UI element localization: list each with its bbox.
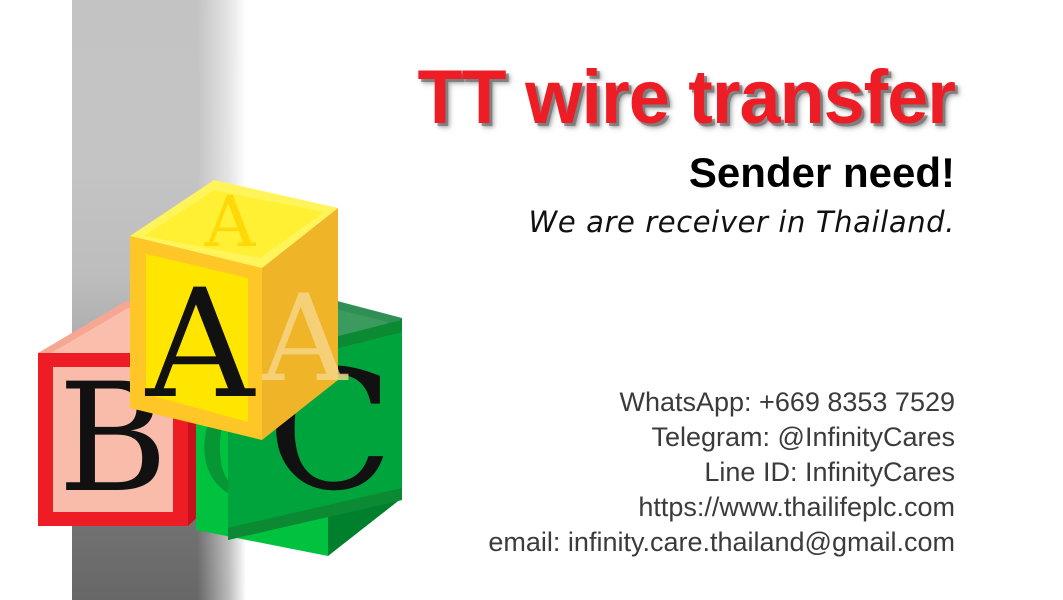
contact-line-email[interactable]: email: infinity.care.thailand@gmail.com	[255, 525, 955, 560]
svg-text:A: A	[145, 258, 256, 432]
tagline: We are receiver in Thailand.	[255, 200, 955, 244]
page-title: TT wire transfer	[276, 56, 955, 140]
contact-line-website[interactable]: https://www.thailifeplc.com	[255, 490, 955, 525]
subtitle: Sender need!	[255, 148, 955, 198]
contact-line-lineid[interactable]: Line ID: InfinityCares	[255, 455, 955, 490]
poster-canvas: B C C	[0, 0, 1063, 600]
contact-line-telegram[interactable]: Telegram: @InfinityCares	[255, 420, 955, 455]
svg-text:A: A	[204, 181, 257, 263]
contact-block: WhatsApp: +669 8353 7529 Telegram: @Infi…	[255, 385, 955, 560]
contact-line-whatsapp[interactable]: WhatsApp: +669 8353 7529	[255, 385, 955, 420]
